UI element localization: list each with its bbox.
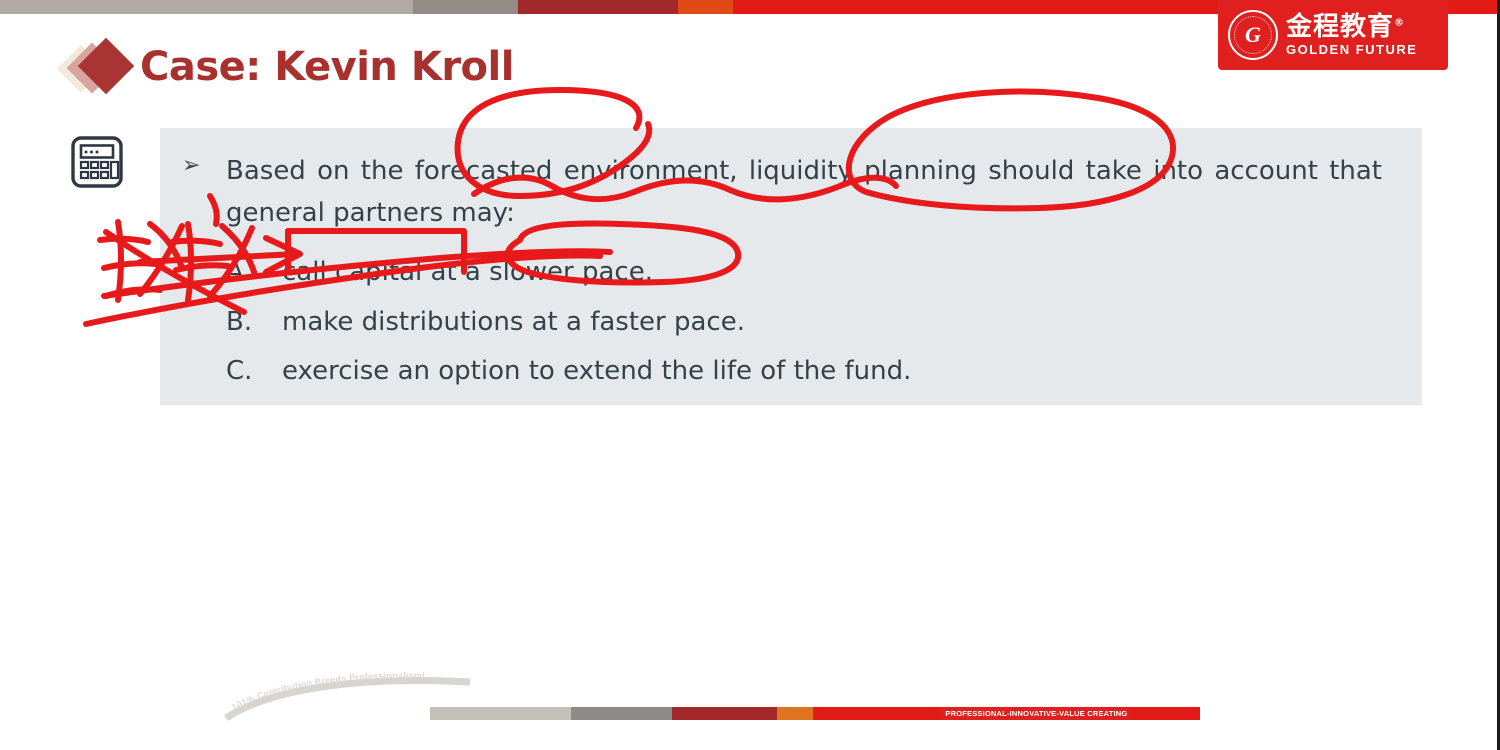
slide-root: G 金程教育® GOLDEN FUTURE Case: Kevin Kroll [0,0,1500,750]
option-c-letter: C. [226,347,282,396]
option-a-letter: A. [226,248,282,297]
slide-title-row: Case: Kevin Kroll [62,36,514,98]
footer-segment-red-end [1131,707,1200,720]
footer-segment-gray [571,707,672,720]
option-b-letter: B. [226,298,282,347]
option-a[interactable]: A. call capital at a slower pace. [182,248,1382,297]
question-panel: ➢ Based on the forecasted environment, l… [160,128,1422,405]
logo-seal-icon: G [1228,10,1278,60]
logo-chinese-name: 金程教育® [1286,14,1405,40]
segment-warm-gray [0,0,413,14]
option-c[interactable]: C. exercise an option to extend the life… [182,347,1382,396]
footer-segment-orange [777,707,813,720]
diamond-bullet-icon [62,36,134,98]
slide-footer: 101% Contribution Breeds Professionalism… [222,672,1212,738]
question-stem-text: Based on the forecasted environment, liq… [226,150,1382,234]
footer-segment-red [813,707,942,720]
brand-logo: G 金程教育® GOLDEN FUTURE [1218,0,1448,70]
footer-segment-dark-red [672,707,777,720]
question-stem-row: ➢ Based on the forecasted environment, l… [182,150,1382,234]
option-a-text: call capital at a slower pace. [282,248,1382,297]
calculator-icon [70,135,124,189]
logo-seal-glyph: G [1245,24,1261,46]
option-b-text: make distributions at a faster pace. [282,298,1382,347]
footer-color-bar: PROFESSIONAL-INNOVATIVE-VALUE CREATING [430,707,1200,720]
segment-dark-red [518,0,678,14]
footer-bar-text: PROFESSIONAL-INNOVATIVE-VALUE CREATING [941,707,1131,720]
segment-gray [413,0,518,14]
logo-text-block: 金程教育® GOLDEN FUTURE [1286,14,1417,56]
footer-tagline-text: 101% Contribution Breeds Professionalism… [230,672,425,713]
arrow-bullet-icon: ➢ [182,150,226,182]
svg-text:101% Contribution Breeds Profe: 101% Contribution Breeds Professionalism… [230,672,425,713]
registered-mark-icon: ® [1394,17,1405,28]
page-title: Case: Kevin Kroll [140,44,514,90]
logo-english-name: GOLDEN FUTURE [1286,43,1417,56]
segment-orange [678,0,733,14]
footer-segment-light-gray [430,707,571,720]
logo-chinese-text: 金程教育 [1286,12,1394,42]
option-list: A. call capital at a slower pace. B. mak… [182,248,1382,396]
option-c-text: exercise an option to extend the life of… [282,347,1382,396]
option-b[interactable]: B. make distributions at a faster pace. [182,298,1382,347]
